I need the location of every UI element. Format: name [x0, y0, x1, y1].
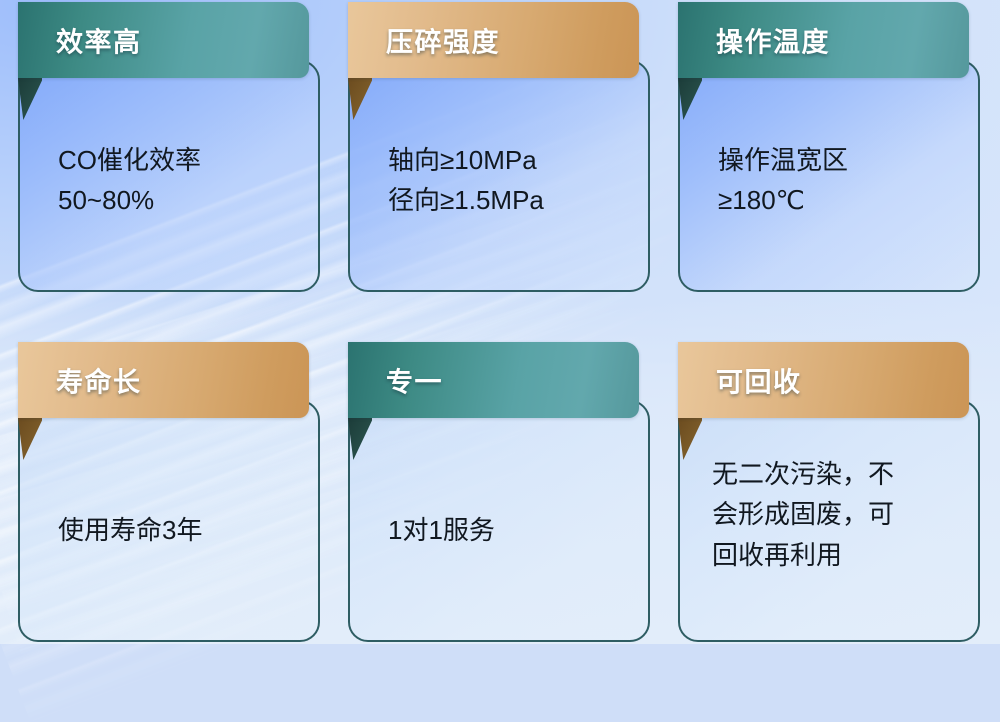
card-title: 压碎强度 [386, 21, 500, 60]
card-title: 寿命长 [56, 361, 142, 400]
feature-card-recyclable[interactable]: 可回收 无二次污染，不 会形成固废，可 回收再利用 [678, 342, 980, 642]
card-title: 效率高 [56, 21, 142, 60]
feature-card-efficiency[interactable]: 效率高 CO催化效率 50~80% [18, 2, 320, 292]
card-banner: 寿命长 [18, 342, 309, 418]
feature-card-dedicated-service[interactable]: 专一 1对1服务 [348, 342, 650, 642]
card-body-text: 轴向≥10MPa 径向≥1.5MPa [388, 140, 544, 221]
feature-card-grid: 效率高 CO催化效率 50~80% 压碎强度 轴向≥10MPa 径向≥1.5MP… [0, 0, 1000, 644]
card-title: 操作温度 [716, 21, 830, 60]
card-banner: 操作温度 [678, 2, 969, 78]
card-title: 专一 [386, 361, 443, 400]
feature-card-operating-temperature[interactable]: 操作温度 操作温宽区 ≥180℃ [678, 2, 980, 292]
card-body-text: 操作温宽区 ≥180℃ [718, 140, 848, 221]
card-body-text: CO催化效率 50~80% [58, 140, 201, 221]
card-banner: 专一 [348, 342, 639, 418]
card-banner: 效率高 [18, 2, 309, 78]
card-title: 可回收 [716, 361, 802, 400]
feature-card-crush-strength[interactable]: 压碎强度 轴向≥10MPa 径向≥1.5MPa [348, 2, 650, 292]
card-body-text: 使用寿命3年 [58, 510, 202, 550]
feature-card-long-life[interactable]: 寿命长 使用寿命3年 [18, 342, 320, 642]
card-banner: 可回收 [678, 342, 969, 418]
card-body-text: 1对1服务 [388, 510, 495, 550]
card-body-text: 无二次污染，不 会形成固废，可 回收再利用 [712, 454, 894, 575]
card-banner: 压碎强度 [348, 2, 639, 78]
